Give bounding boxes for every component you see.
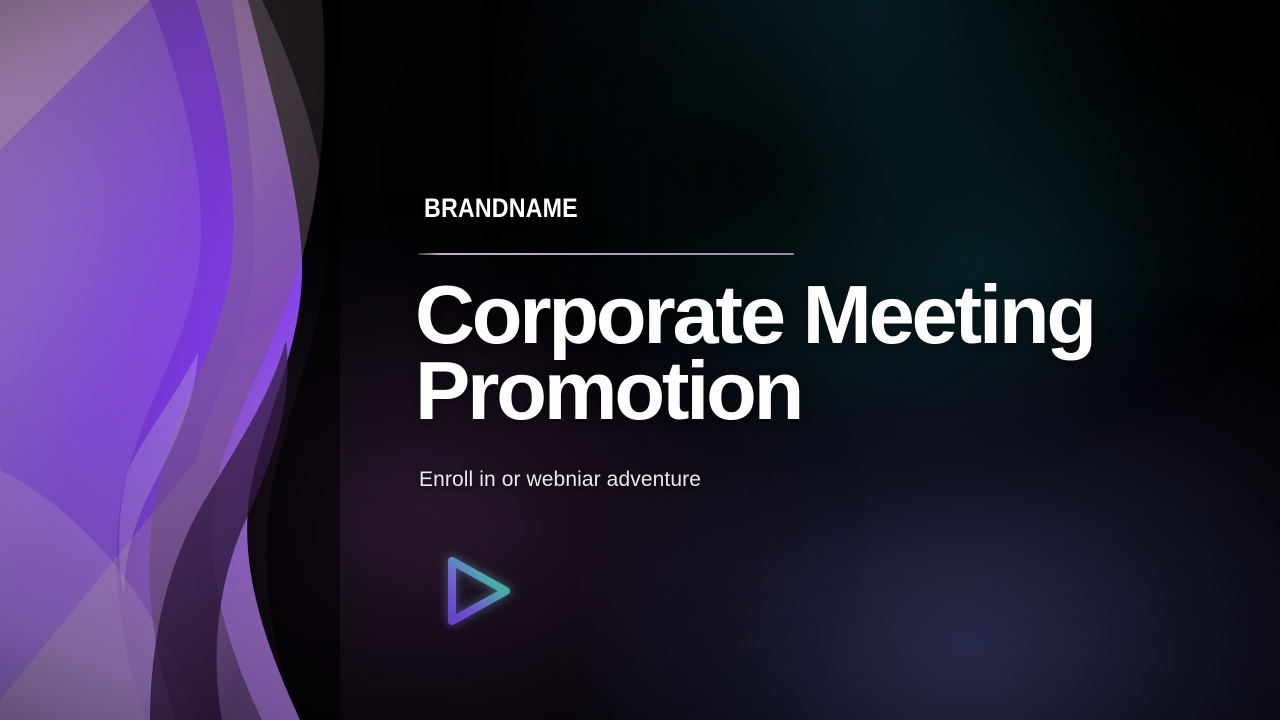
divider-rule xyxy=(418,253,794,255)
left-abstract-ribbon-art xyxy=(0,0,340,720)
content-block: BRANDNAME Corporate Meeting Promotion En… xyxy=(418,0,1238,720)
headline-line-2: Promotion xyxy=(415,354,1215,427)
subtitle-text: Enroll in or webniar adventure xyxy=(419,468,701,492)
play-triangle-icon xyxy=(430,545,526,637)
play-button[interactable] xyxy=(430,545,526,637)
promo-slide: BRANDNAME Corporate Meeting Promotion En… xyxy=(0,0,1280,720)
headline-line-1: Corporate Meeting xyxy=(415,278,1215,351)
brand-name: BRANDNAME xyxy=(424,193,578,224)
page-title: Corporate Meeting Promotion xyxy=(415,278,1215,427)
